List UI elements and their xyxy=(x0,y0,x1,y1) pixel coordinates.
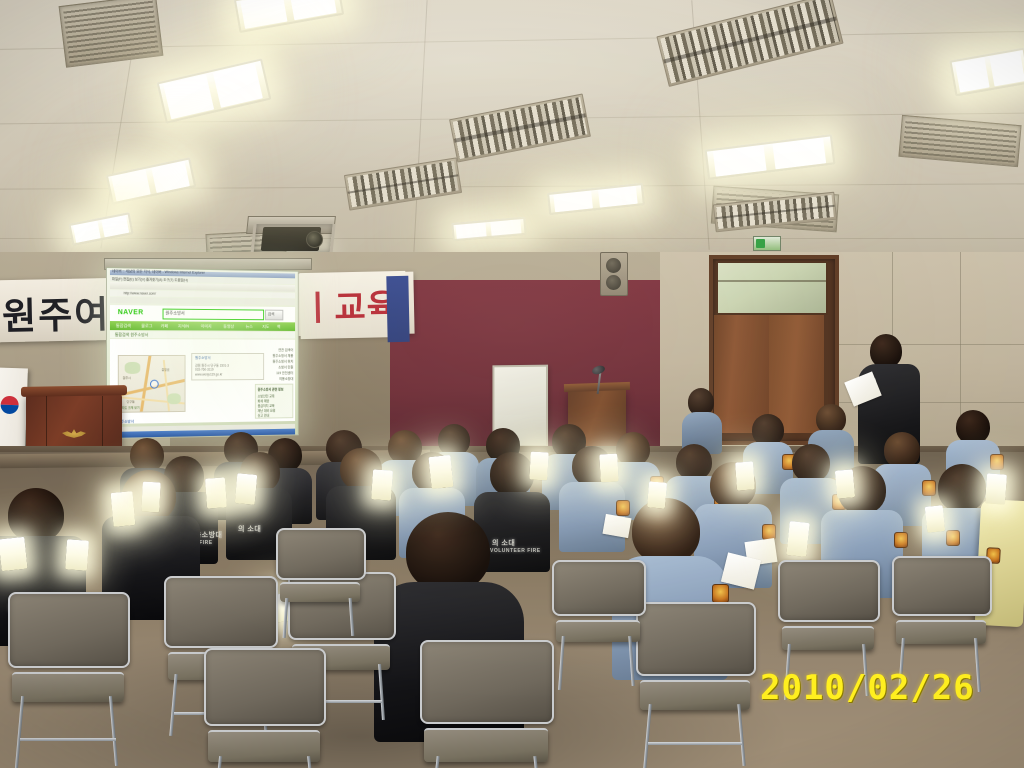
chair[interactable] xyxy=(204,648,328,768)
chair[interactable] xyxy=(636,602,758,768)
browser-title: 네이버 :: 세상의 모든 지식, 네이버 - Windows Internet… xyxy=(112,269,205,276)
naver-nav-item[interactable]: 뉴스 xyxy=(246,324,253,330)
photograph: 원주여성 ㅣ교육 네이버 :: 세상의 모든 지식, 네이버 - Windows… xyxy=(0,0,1024,768)
chair[interactable] xyxy=(8,592,128,768)
naver-logo: NAVER xyxy=(118,309,144,316)
handout-paper xyxy=(602,514,631,538)
naver-nav-item[interactable]: 지식iN xyxy=(178,323,189,329)
jacket-korean-text: 의 소대 xyxy=(238,524,261,534)
instructor-head xyxy=(870,334,902,368)
related-info-box: 원주소방서 관련 정보 소방안전 교육 화재 예방 응급처치 교육 재난 대비 … xyxy=(255,384,293,419)
reflective-strip xyxy=(786,521,809,557)
naver-nav-item[interactable]: 블로그 xyxy=(141,323,152,329)
map-pin-icon xyxy=(150,380,159,389)
reflective-strip xyxy=(599,454,618,483)
reflective-strip xyxy=(111,491,136,527)
naver-global-nav: 통합검색 블로그 카페 지식iN 이미지 동영상 뉴스 지도 책 xyxy=(110,321,295,331)
reflective-strip xyxy=(835,469,855,498)
naver-search-value: 원주소방서 xyxy=(165,311,184,317)
map-caption[interactable]: 지도 크게 보기 xyxy=(122,406,140,410)
ceiling-vent xyxy=(59,0,164,68)
map-label: 중앙로 xyxy=(162,368,170,372)
related-search-item[interactable]: 119 안전센터 xyxy=(276,370,293,375)
naver-search-input[interactable]: 원주소방서 xyxy=(163,309,265,321)
naver-header: NAVER 원주소방서 검색 xyxy=(110,305,295,322)
door-transom-window xyxy=(716,261,828,315)
related-search-item[interactable]: 원주소방서 위치 xyxy=(273,359,294,364)
jacket-korean-text: 의 소대 xyxy=(492,538,515,548)
place-phone: 033-760-3119 xyxy=(195,368,214,372)
reflective-strip xyxy=(235,473,258,505)
place-title: 원주소방서 xyxy=(195,356,211,361)
reflective-strip xyxy=(65,539,89,570)
browser-links-bar xyxy=(110,297,295,305)
map-label: 원주시 xyxy=(123,376,131,380)
naver-subnav: 통합검색 원주소방서 xyxy=(110,331,295,339)
browser-url: http://www.naver.com/ xyxy=(124,291,156,295)
map-widget[interactable]: 원주시 단구동 중앙로 지도 크게 보기 xyxy=(118,355,186,413)
banner-blue-panel xyxy=(386,276,409,342)
reflective-strip xyxy=(428,455,453,489)
reflective-strip xyxy=(529,452,548,481)
naver-search-button[interactable]: 검색 xyxy=(265,310,283,321)
naver-nav-item[interactable]: 지도 xyxy=(262,324,269,330)
naver-nav-item[interactable]: 동영상 xyxy=(223,323,234,329)
naver-nav-item[interactable]: 카페 xyxy=(161,323,168,329)
related-search-item[interactable]: 원주소방서 채용 xyxy=(273,353,294,358)
related-info-title: 원주소방서 관련 정보 xyxy=(258,387,284,392)
map-label: 단구동 xyxy=(127,400,135,404)
projector-lens-icon xyxy=(306,231,323,248)
chair[interactable] xyxy=(420,640,556,768)
related-search-item[interactable]: 의용소방대 xyxy=(279,376,293,381)
reflective-strip xyxy=(141,482,161,513)
reflective-strip xyxy=(735,461,755,490)
naver-nav-item[interactable]: 책 xyxy=(277,324,281,330)
reflective-strip xyxy=(925,505,946,533)
place-website[interactable]: www.wonju119.go.kr xyxy=(195,372,222,376)
related-search-title: 연관 검색어 xyxy=(278,347,293,352)
related-info-item[interactable]: 신고 안내 xyxy=(258,413,270,418)
related-search-item[interactable]: 소방서 민원 xyxy=(278,364,293,369)
naver-nav-item[interactable]: 통합검색 xyxy=(116,323,131,329)
search-result: 원주소방서 강원도 원주시 소방서 - 화재예방, 구조구급, 의용소방대 안내 xyxy=(118,418,251,420)
camera-date-stamp: 2010/02/26 xyxy=(760,668,975,708)
emblem-icon xyxy=(62,428,86,439)
reflective-strip xyxy=(0,537,28,572)
place-info-card: 원주소방서 강원 원주시 단구동 1501-3 033-760-3119 www… xyxy=(191,353,264,380)
exit-sign xyxy=(753,236,781,251)
reflective-strip xyxy=(205,477,227,508)
jacket-english-text: VOLUNTEER FIRE xyxy=(490,548,541,554)
reflective-strip xyxy=(371,469,393,500)
projection-screen: 네이버 :: 세상의 모든 지식, 네이버 - Windows Internet… xyxy=(106,267,299,439)
naver-content: 원주시 단구동 중앙로 지도 크게 보기 원주소방서 강원 원주시 단구동 15… xyxy=(110,339,295,424)
reflective-strip xyxy=(647,481,667,508)
wall-speaker xyxy=(600,252,628,296)
reflective-strip xyxy=(985,473,1007,504)
banner-text-right: ㅣ교육 xyxy=(301,279,399,330)
naver-nav-item[interactable]: 이미지 xyxy=(201,323,212,329)
chair[interactable] xyxy=(552,560,648,690)
chair[interactable] xyxy=(276,528,368,638)
